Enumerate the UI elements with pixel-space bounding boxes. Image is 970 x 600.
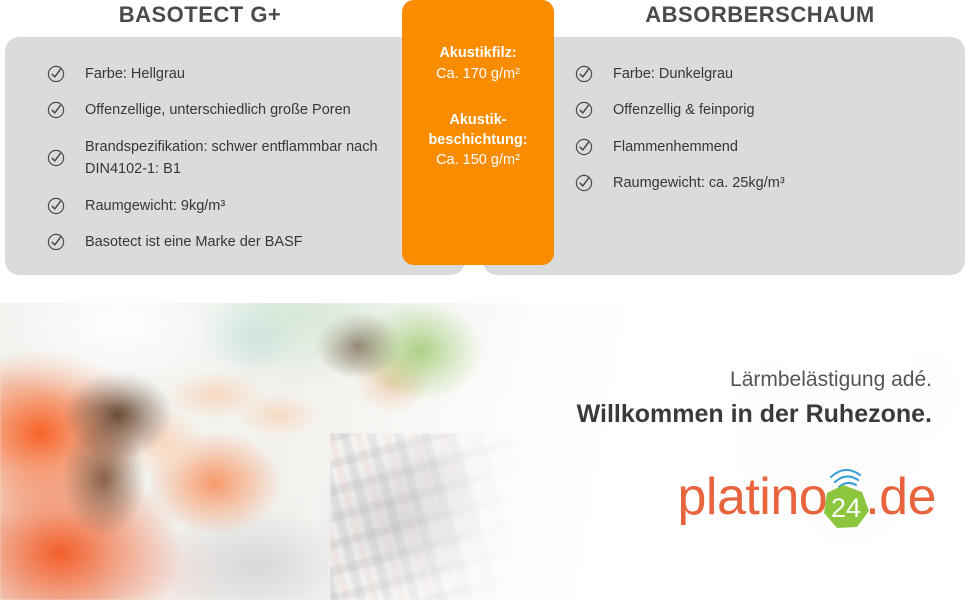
check-circle-icon [575, 65, 593, 83]
right-spec-list: Farbe: Dunkelgrau Offenzellig & feinpori… [483, 63, 965, 209]
check-circle-icon [575, 174, 593, 192]
tagline-secondary: Willkommen in der Ruhezone. [462, 398, 932, 432]
left-spec-list: Farbe: Hellgrau Offenzellige, unterschie… [5, 63, 465, 268]
background-ghost-shapes [600, 313, 970, 600]
acoustic-felt-block: Akustikfilz: Ca. 170 g/m² [402, 44, 554, 85]
plaid-shirt-texture [330, 433, 530, 600]
logo-green-badge-icon: 24 [815, 461, 873, 533]
check-circle-icon [47, 101, 65, 119]
acoustic-felt-label: Akustikfilz: [402, 44, 554, 64]
spec-text: Basotect ist eine Marke der BASF [85, 231, 303, 253]
spec-text: Brandspezifikation: schwer entflammbar n… [85, 136, 405, 181]
acoustic-coating-block: Akustik-beschichtung: Ca. 150 g/m² [402, 111, 554, 172]
logo-tld: .de [865, 471, 936, 523]
spec-text: Farbe: Dunkelgrau [613, 63, 733, 85]
comparison-section: BASOTECT G+ ABSORBERSCHAUM Farbe: Hellgr… [0, 0, 970, 303]
list-item: Raumgewicht: ca. 25kg/m³ [575, 172, 935, 194]
list-item: Offenzellig & feinporig [575, 99, 935, 121]
left-column-title: BASOTECT G+ [0, 2, 400, 28]
right-column-title: ABSORBERSCHAUM [560, 2, 960, 28]
check-circle-icon [47, 149, 65, 167]
list-item: Farbe: Dunkelgrau [575, 63, 935, 85]
spec-text: Flammenhemmend [613, 136, 738, 158]
check-circle-icon [47, 65, 65, 83]
acoustic-coating-value: Ca. 150 g/m² [402, 150, 554, 172]
right-spec-card: Farbe: Dunkelgrau Offenzellig & feinpori… [483, 37, 965, 275]
hero-section: Lärmbelästigung adé. Willkommen in der R… [0, 303, 970, 600]
check-circle-icon [575, 101, 593, 119]
spec-text: Offenzellig & feinporig [613, 99, 755, 121]
list-item: Brandspezifikation: schwer entflammbar n… [47, 136, 405, 181]
platino24-logo[interactable]: platino 24 .de [677, 461, 936, 533]
tagline-primary: Lärmbelästigung adé. [462, 367, 932, 392]
hero-text-block: Lärmbelästigung adé. Willkommen in der R… [462, 367, 932, 432]
svg-text:24: 24 [831, 493, 861, 523]
list-item: Farbe: Hellgrau [47, 63, 405, 85]
spec-text: Offenzellige, unterschiedlich große Pore… [85, 99, 351, 121]
acoustic-felt-value: Ca. 170 g/m² [402, 64, 554, 86]
logo-wordmark: platino [677, 471, 827, 523]
list-item: Flammenhemmend [575, 136, 935, 158]
promo-infographic: BASOTECT G+ ABSORBERSCHAUM Farbe: Hellgr… [0, 0, 970, 600]
left-spec-card: Farbe: Hellgrau Offenzellige, unterschie… [5, 37, 465, 275]
check-circle-icon [47, 233, 65, 251]
center-highlight-panel: Akustikfilz: Ca. 170 g/m² Akustik-beschi… [402, 0, 554, 265]
spec-text: Raumgewicht: ca. 25kg/m³ [613, 172, 785, 194]
list-item: Raumgewicht: 9kg/m³ [47, 195, 405, 217]
check-circle-icon [575, 138, 593, 156]
list-item: Basotect ist eine Marke der BASF [47, 231, 405, 253]
acoustic-coating-label: Akustik-beschichtung: [402, 111, 554, 150]
check-circle-icon [47, 197, 65, 215]
list-item: Offenzellige, unterschiedlich große Pore… [47, 99, 405, 121]
spec-text: Raumgewicht: 9kg/m³ [85, 195, 225, 217]
spec-text: Farbe: Hellgrau [85, 63, 185, 85]
